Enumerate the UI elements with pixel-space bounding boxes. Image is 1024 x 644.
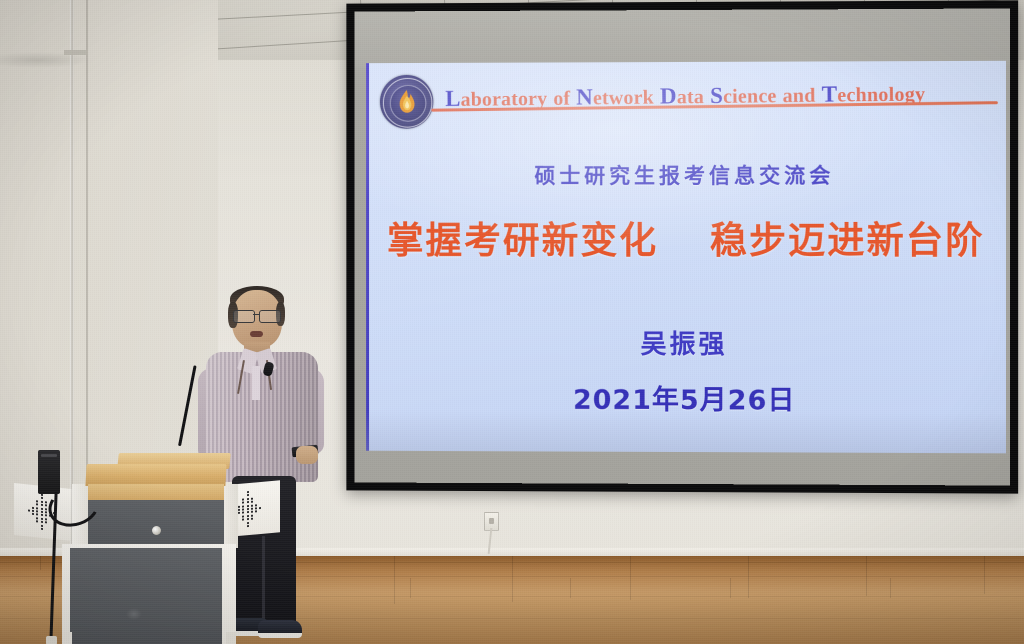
podium-lock-icon[interactable] (152, 526, 161, 535)
podium-side-right (222, 484, 238, 548)
slide-bottom-fade (366, 411, 1006, 453)
wall-seam-cap (64, 50, 88, 55)
podium-panel-highlight (126, 608, 142, 620)
glasses-bridge (253, 314, 259, 315)
podium-front-panel (88, 500, 224, 548)
shirt-placket (252, 366, 260, 400)
header-word-capital: L (445, 86, 461, 111)
projected-slide: LaboratoryofNetworkDataScienceandTechnol… (366, 61, 1006, 454)
slide-main-title: 掌握考研新变化 稳步迈进新台阶 (366, 210, 1006, 264)
slide-main-title-line1: 掌握考研新变化 (387, 219, 658, 262)
presenter-mouth (250, 331, 263, 337)
glasses-lens-left (233, 310, 255, 323)
slide-main-title-line2: 稳步迈进新台阶 (710, 219, 985, 262)
podium-foot-right (226, 632, 236, 644)
projection-screen-surface: LaboratoryofNetworkDataScienceandTechnol… (354, 8, 1010, 485)
presenter-hand-right (296, 446, 318, 464)
podium-foot-left (62, 632, 72, 644)
logo-flame-icon (394, 88, 421, 116)
glasses-lens-right (259, 310, 281, 323)
audio-unit (38, 450, 60, 494)
slide-subtitle: 硕士研究生报考信息交流会 (366, 159, 1006, 190)
podium-column-panel (70, 548, 222, 644)
screen-top-band (354, 8, 1010, 67)
glasses-icon (232, 310, 282, 322)
podium (0, 440, 296, 644)
university-seal-logo-icon (380, 75, 433, 129)
slide-header: LaboratoryofNetworkDataScienceandTechnol… (374, 69, 998, 127)
cable-plug (46, 636, 57, 644)
audio-unit-slot (41, 454, 57, 457)
lecture-hall-photo: LaboratoryofNetworkDataScienceandTechnol… (0, 0, 1024, 644)
podium-desktop (85, 464, 226, 486)
slide-presenter-name: 吴振强 (366, 324, 1006, 362)
